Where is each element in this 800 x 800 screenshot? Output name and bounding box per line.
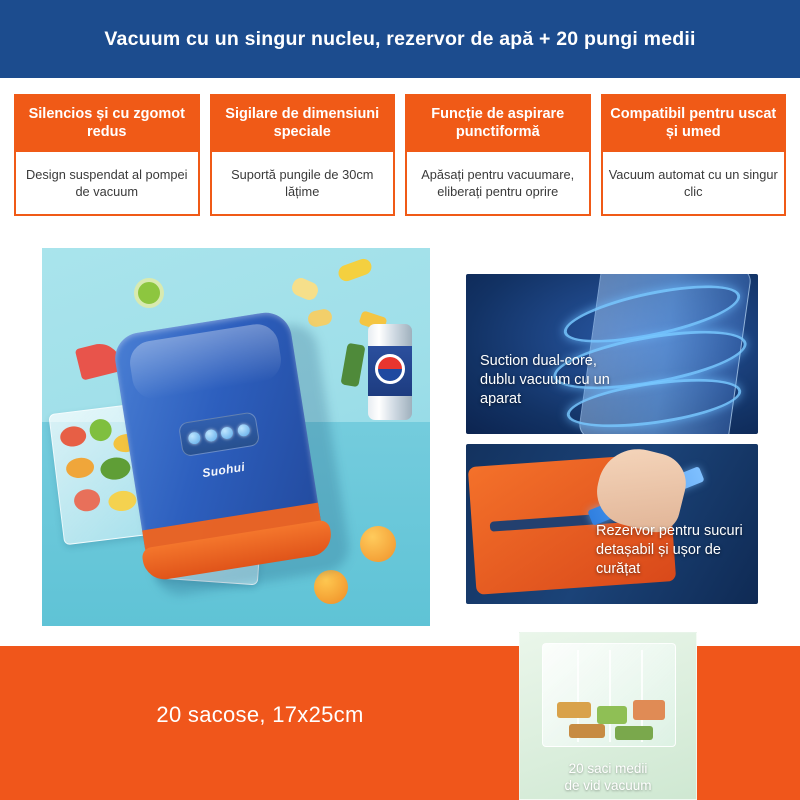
bags-caption-line-1: 20 saci medii <box>520 761 696 778</box>
bags-photo-caption: 20 saci medii de vid vacuum <box>520 761 696 795</box>
bottom-bags-text: 20 sacose, 17x25cm <box>0 702 520 728</box>
panel-button-icon <box>204 429 218 443</box>
side-panel-dual-core: Suction dual-core, dublu vacuum cu un ap… <box>466 274 758 434</box>
feature-card-1: Silencios și cu zgomot redus Design susp… <box>14 94 200 216</box>
top-banner: Vacuum cu un singur nucleu, rezervor de … <box>0 0 800 78</box>
bag-content-food <box>569 724 605 738</box>
food-cucumber-slice <box>134 278 164 308</box>
feature-card-3-title: Funcție de aspirare punctiformă <box>407 96 589 152</box>
middle-section: Suohui Suction dual-core, dublu vacuum c… <box>0 226 800 646</box>
bag-content-food <box>557 702 591 718</box>
food-banana-slice <box>336 257 373 284</box>
panel-button-icon <box>220 426 234 440</box>
food-orange-2 <box>314 570 348 604</box>
banner-title: Vacuum cu un singur nucleu, rezervor de … <box>84 28 715 51</box>
bag-stack-graphic <box>542 643 676 747</box>
bags-caption-line-2: de vid vacuum <box>520 778 696 795</box>
device-highlight <box>127 321 284 402</box>
feature-cards-row: Silencios și cu zgomot redus Design susp… <box>0 78 800 226</box>
feature-card-4-title: Compatibil pentru uscat și umed <box>603 96 785 152</box>
feature-card-2-text: Suportă pungile de 30cm lățime <box>212 152 394 214</box>
product-infographic: Vacuum cu un singur nucleu, rezervor de … <box>0 0 800 800</box>
feature-card-2-title: Sigilare de dimensiuni speciale <box>212 96 394 152</box>
bag-edge-line <box>609 650 611 742</box>
side-panel-1-caption: Suction dual-core, dublu vacuum cu un ap… <box>480 352 620 409</box>
bags-photo-card: 20 saci medii de vid vacuum <box>519 632 697 800</box>
side-panels: Suction dual-core, dublu vacuum cu un ap… <box>466 274 758 604</box>
food-chip-1 <box>289 275 320 302</box>
feature-card-4: Compatibil pentru uscat și umed Vacuum a… <box>601 94 787 216</box>
bag-content-food <box>597 706 627 724</box>
bottom-band: 20 sacose, 17x25cm 20 saci medii de vid … <box>0 646 800 800</box>
bag-content-food <box>633 700 665 720</box>
feature-card-2: Sigilare de dimensiuni speciale Suportă … <box>210 94 396 216</box>
panel-button-icon <box>188 431 202 445</box>
side-panel-2-caption: Rezervor pentru sucuri detașabil și ușor… <box>596 522 746 579</box>
food-chip-2 <box>307 308 334 329</box>
feature-card-3: Funcție de aspirare punctiformă Apăsați … <box>405 94 591 216</box>
feature-card-1-title: Silencios și cu zgomot redus <box>16 96 198 152</box>
food-orange-1 <box>360 526 396 562</box>
food-zucchini-stick <box>340 343 365 387</box>
soda-can <box>368 324 412 420</box>
main-product-photo: Suohui <box>42 248 430 626</box>
feature-card-1-text: Design suspendat al pompei de vacuum <box>16 152 198 214</box>
bag-content-food <box>615 726 653 740</box>
side-panel-water-tank: Rezervor pentru sucuri detașabil și ușor… <box>466 444 758 604</box>
feature-card-4-text: Vacuum automat cu un singur clic <box>603 152 785 214</box>
can-logo <box>375 354 405 384</box>
vacuum-sealer-device: Suohui <box>111 306 344 586</box>
feature-card-3-text: Apăsați pentru vacuumare, eliberați pent… <box>407 152 589 214</box>
panel-button-icon <box>237 424 251 438</box>
